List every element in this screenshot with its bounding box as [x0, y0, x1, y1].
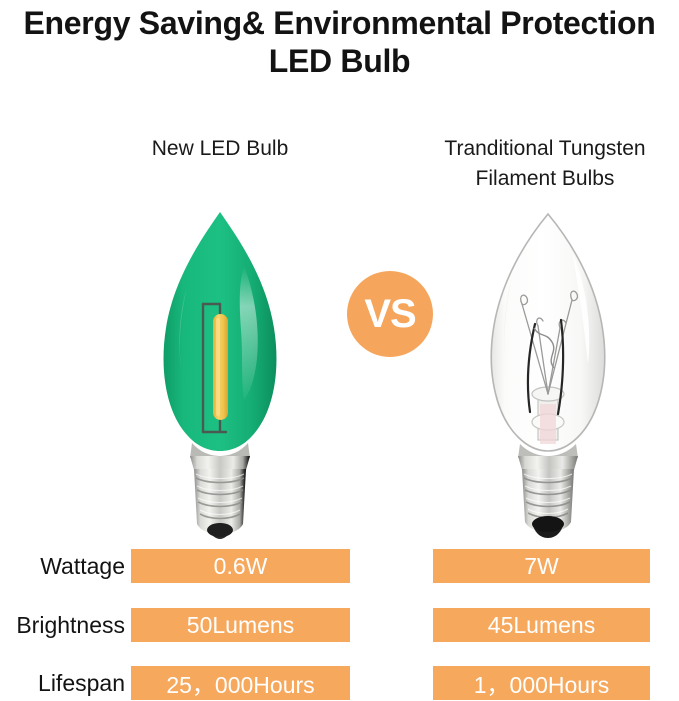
value-brightness-led: 50Lumens — [131, 608, 350, 642]
value-brightness-tungsten: 45Lumens — [433, 608, 650, 642]
value-lifespan-led: 25，000Hours — [131, 666, 350, 700]
row-label-brightness: Brightness — [5, 610, 125, 640]
led-bulb-image — [140, 208, 300, 540]
value-wattage-led: 0.6W — [131, 549, 350, 583]
value-wattage-tungsten: 7W — [433, 549, 650, 583]
row-label-lifespan: Lifespan — [5, 668, 125, 698]
tungsten-bulb-image — [468, 208, 628, 540]
column-header-led: New LED Bulb — [100, 134, 340, 164]
page-title: Energy Saving& Environmental Protection … — [0, 4, 679, 80]
column-header-tungsten: Tranditional Tungsten Filament Bulbs — [420, 134, 670, 194]
value-lifespan-tungsten: 1，000Hours — [433, 666, 650, 700]
vs-badge: VS — [347, 271, 433, 357]
row-label-wattage: Wattage — [5, 551, 125, 581]
